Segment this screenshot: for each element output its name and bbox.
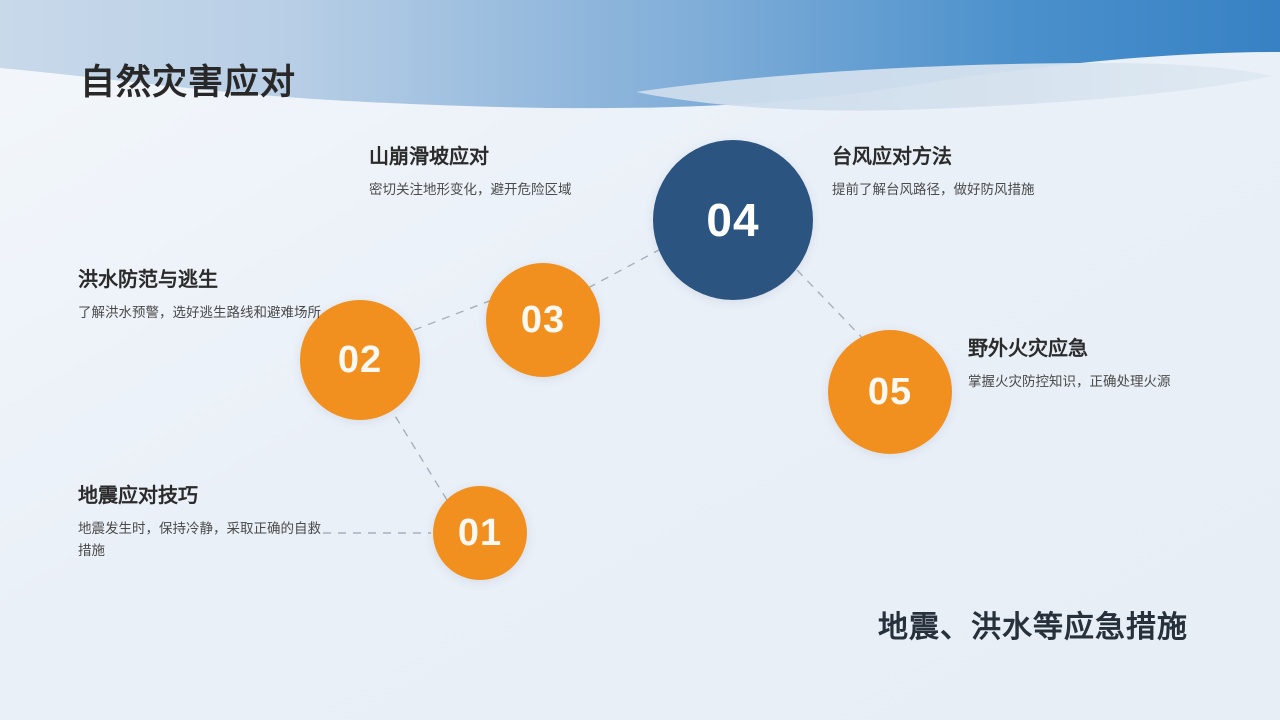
node-number-02: 02 — [338, 341, 382, 379]
label-desc-wildfire: 掌握火灾防控知识，正确处理火源 — [968, 371, 1203, 393]
label-desc-landslide: 密切关注地形变化，避开危险区域 — [369, 179, 669, 201]
node-number-03: 03 — [521, 301, 565, 339]
label-desc-flood: 了解洪水预警，选好逃生路线和避难场所 — [78, 302, 323, 324]
label-block-landslide: 山崩滑坡应对 密切关注地形变化，避开危险区域 — [369, 145, 669, 201]
label-title-flood: 洪水防范与逃生 — [78, 268, 323, 293]
node-circle-04[interactable]: 04 — [653, 140, 813, 300]
connector-03-to-04 — [588, 244, 670, 288]
label-desc-typhoon: 提前了解台风路径，做好防风措施 — [832, 179, 1152, 201]
label-block-earthquake: 地震应对技巧 地震发生时，保持冷静，采取正确的自救措施 — [78, 484, 323, 563]
connector-01-to-02 — [392, 411, 447, 500]
label-title-wildfire: 野外火灾应急 — [968, 337, 1203, 362]
node-circle-05[interactable]: 05 — [828, 330, 952, 454]
label-title-landslide: 山崩滑坡应对 — [369, 145, 669, 170]
label-title-earthquake: 地震应对技巧 — [78, 484, 323, 509]
label-block-typhoon: 台风应对方法 提前了解台风路径，做好防风措施 — [832, 145, 1152, 201]
page-title: 自然灾害应对 — [80, 54, 296, 105]
connector-02-to-03 — [414, 300, 492, 330]
node-number-05: 05 — [868, 373, 912, 411]
bottom-headline: 地震、洪水等应急措施 — [878, 602, 1188, 646]
label-block-wildfire: 野外火灾应急 掌握火灾防控知识，正确处理火源 — [968, 337, 1203, 393]
node-circle-03[interactable]: 03 — [486, 263, 600, 377]
label-title-typhoon: 台风应对方法 — [832, 145, 1152, 170]
node-circle-01[interactable]: 01 — [433, 486, 527, 580]
slide-canvas: 自然灾害应对 01 02 03 04 05 地震应对技巧 地震发生时，保持冷静，… — [0, 0, 1280, 720]
label-desc-earthquake: 地震发生时，保持冷静，采取正确的自救措施 — [78, 518, 323, 563]
node-number-01: 01 — [458, 514, 502, 552]
node-number-04: 04 — [706, 197, 759, 243]
label-block-flood: 洪水防范与逃生 了解洪水预警，选好逃生路线和避难场所 — [78, 268, 323, 324]
